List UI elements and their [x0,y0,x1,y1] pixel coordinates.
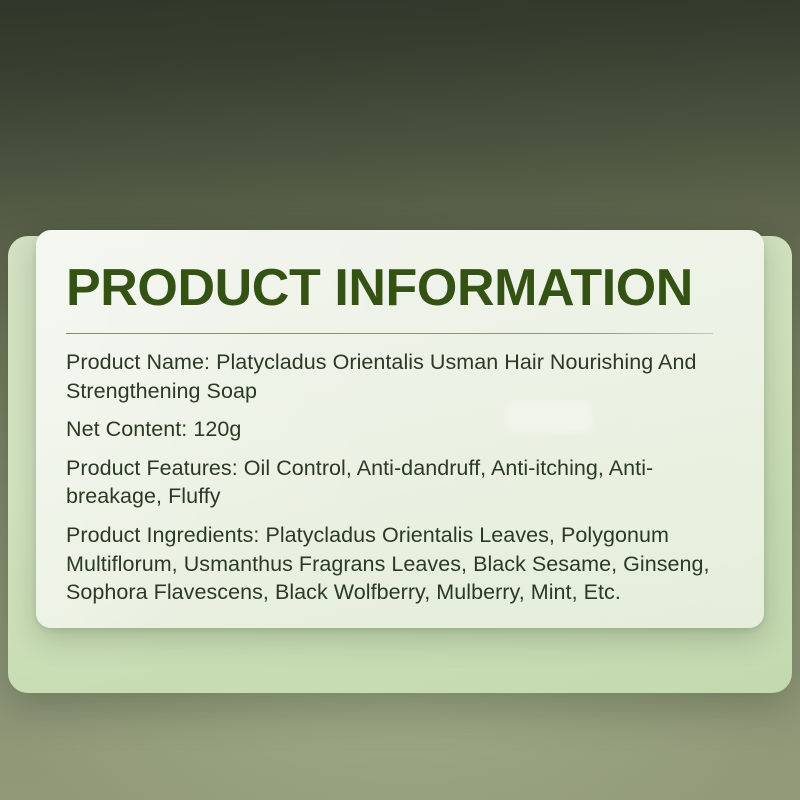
detail-product-name: Product Name: Platycladus Orientalis Usm… [66,348,718,405]
detail-product-features: Product Features: Oil Control, Anti-dand… [66,454,718,511]
product-information-graphic: PRODUCT INFORMATION Product Name: Platyc… [0,0,800,800]
product-details-list: Product Name: Platycladus Orientalis Usm… [66,348,734,607]
detail-net-content: Net Content: 120g [66,415,718,444]
detail-product-ingredients: Product Ingredients: Platycladus Orienta… [66,521,718,607]
page-title: PRODUCT INFORMATION [66,262,734,315]
card-content: PRODUCT INFORMATION Product Name: Platyc… [36,230,764,607]
product-information-card: PRODUCT INFORMATION Product Name: Platyc… [36,230,764,628]
title-divider [66,333,713,334]
